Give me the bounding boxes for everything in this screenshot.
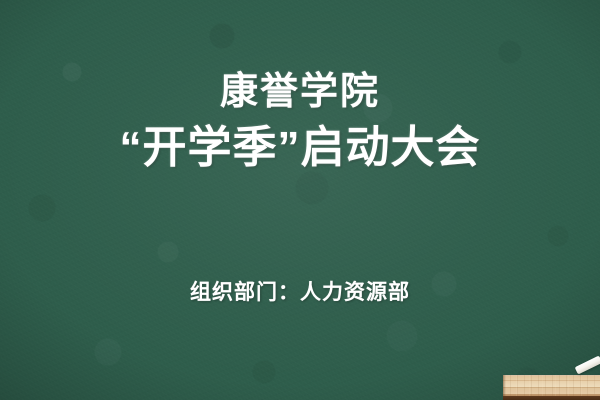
slide-subtitle: 组织部门：人力资源部 [0,276,600,306]
chalk-tray-left-cap [503,375,506,396]
chalkboard-slide: 康誉学院 “开学季”启动大会 组织部门：人力资源部 [0,0,600,400]
title-line-1: 康誉学院 [0,66,600,118]
title-line-2: “开学季”启动大会 [0,118,600,178]
slide-content: 康誉学院 “开学季”启动大会 组织部门：人力资源部 [0,0,600,400]
slide-title: 康誉学院 “开学季”启动大会 [0,66,600,178]
chalk-tray-icon [503,375,600,400]
chalk-tray-woodgrain [503,375,600,396]
